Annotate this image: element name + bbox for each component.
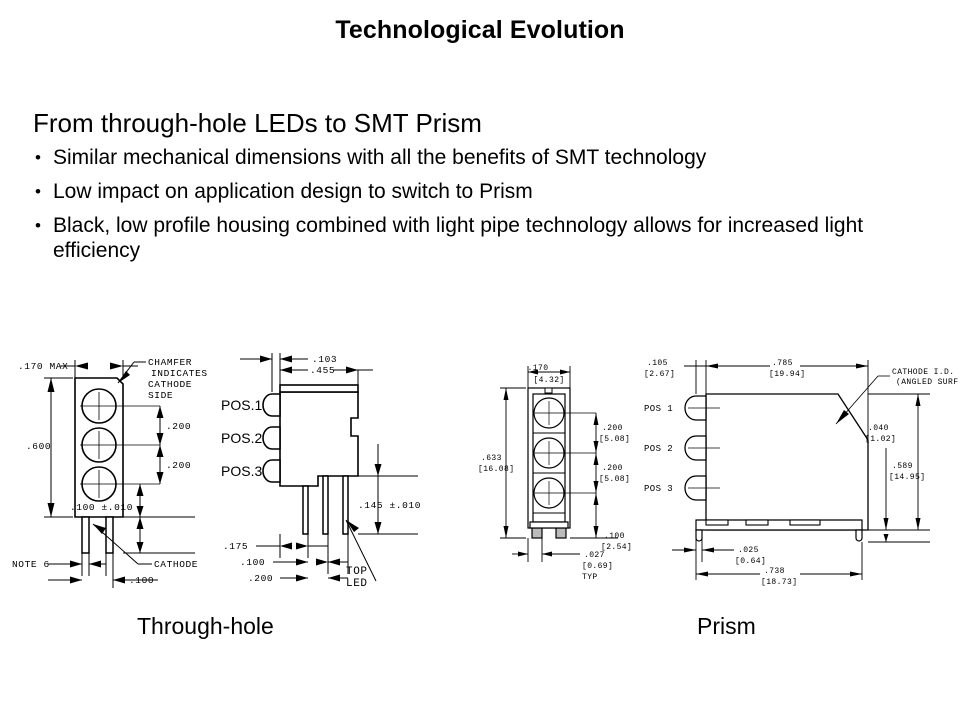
label-prism-pos-1: POS 1 [644, 404, 673, 414]
note-chamfer-line2: INDICATES [151, 368, 208, 379]
dim-prism-pad-in: .025 [738, 546, 759, 555]
dim-width-max: .170 MAX [18, 361, 68, 372]
dim-prism-base-in: .100 [604, 532, 625, 541]
list-item: • Black, low profile housing combined wi… [33, 213, 938, 263]
body-content: From through-hole LEDs to SMT Prism • Si… [33, 108, 938, 272]
drawing-area: .170 MAX CHAMFER INDICATES CATHODE SIDE [0, 340, 960, 625]
dim-prism-thick-in: .027 [584, 551, 605, 560]
note-cathode-id-line1: CATHODE I.D. [892, 368, 954, 377]
dim-prism-total-in: .738 [764, 567, 785, 576]
label-pos-1: POS.1 [221, 397, 262, 413]
note-chamfer-line4: SIDE [148, 390, 173, 401]
dim-lead-pitch: .100 [129, 575, 154, 586]
dim-prism-base-mm: [2.54] [601, 543, 632, 552]
note-chamfer-line1: CHAMFER [148, 357, 192, 368]
dim-200: .200 [248, 573, 273, 584]
prism-front-view: .170 [4.32] .633 [16.08] [478, 348, 658, 593]
dim-note-6: NOTE 6 [12, 559, 50, 570]
label-pos-2: POS.2 [221, 430, 262, 446]
label-pos-3: POS.3 [221, 463, 262, 479]
dim-prism-standoff-mm: [1.02] [865, 435, 896, 444]
page-title: Technological Evolution [0, 16, 960, 45]
through-hole-front-view: .170 MAX CHAMFER INDICATES CATHODE SIDE [10, 348, 225, 593]
label-cathode: CATHODE [154, 559, 198, 570]
dim-prism-standoff-in: .040 [868, 424, 889, 433]
dim-prism-pitch1-in: .200 [602, 424, 623, 433]
dim-prism-height-mm: [16.08] [478, 465, 514, 474]
dim-pitch-2: .200 [166, 460, 191, 471]
label-prism-pos-2: POS 2 [644, 444, 673, 454]
dim-lead-offset: .100 ±.010 [70, 502, 133, 513]
note-cathode-id-line2: (ANGLED SURFA [896, 378, 958, 387]
bullet-marker-icon: • [35, 179, 41, 204]
bullet-marker-icon: • [35, 213, 41, 238]
lead-heading: From through-hole LEDs to SMT Prism [33, 108, 938, 138]
dim-prism-total-mm: [18.73] [761, 578, 797, 587]
dim-prism-thick-mm: [0.69] [582, 562, 613, 571]
list-item: • Low impact on application design to sw… [33, 179, 938, 204]
label-prism-pos-3: POS 3 [644, 484, 673, 494]
dim-103: .103 [312, 354, 337, 365]
dim-prism-pitch1-mm: [5.08] [599, 435, 630, 444]
dim-455: .455 [310, 365, 335, 376]
dim-pitch-1: .200 [166, 421, 191, 432]
caption-through-hole: Through-hole [137, 612, 274, 640]
bullet-text: Similar mechanical dimensions with all t… [53, 145, 938, 170]
dim-175: .175 [223, 541, 248, 552]
dim-100: .100 [240, 557, 265, 568]
label-top-led-line1: TOP [346, 566, 368, 578]
bullet-text: Black, low profile housing combined with… [53, 213, 938, 263]
dim-145: .145 ±.010 [358, 500, 421, 511]
dim-prism-front-in: .105 [647, 359, 668, 368]
dim-prism-pitch2-mm: [5.08] [599, 475, 630, 484]
bullet-text: Low impact on application design to swit… [53, 179, 938, 204]
dim-prism-width-in: .170 [528, 364, 549, 373]
dim-height-total: .600 [26, 441, 51, 452]
dim-prism-thick-typ: TYP [582, 573, 598, 582]
dim-prism-front-mm: [2.67] [644, 370, 675, 379]
slide-root: Technological Evolution From through-hol… [0, 0, 960, 720]
prism-side-view: .105 [2.67] .785 [19.94] [640, 348, 958, 593]
bullet-list: • Similar mechanical dimensions with all… [33, 145, 938, 263]
dim-prism-pad-mm: [0.64] [735, 557, 766, 566]
dim-prism-height-in: .589 [892, 462, 913, 471]
dim-prism-width-mm: [4.32] [533, 376, 564, 385]
list-item: • Similar mechanical dimensions with all… [33, 145, 938, 170]
dim-prism-body-mm: [19.94] [769, 370, 805, 379]
caption-prism: Prism [697, 612, 756, 640]
dim-prism-height-mm: [14.95] [889, 473, 925, 482]
dim-prism-body-in: .785 [772, 359, 793, 368]
through-hole-side-view: .103 .455 POS.1 POS.2 POS.3 [218, 348, 443, 593]
label-top-led-line2: LED [346, 578, 368, 590]
note-chamfer-line3: CATHODE [148, 379, 192, 390]
bullet-marker-icon: • [35, 145, 41, 170]
dim-prism-pitch2-in: .200 [602, 464, 623, 473]
dim-prism-height-in: .633 [481, 454, 502, 463]
